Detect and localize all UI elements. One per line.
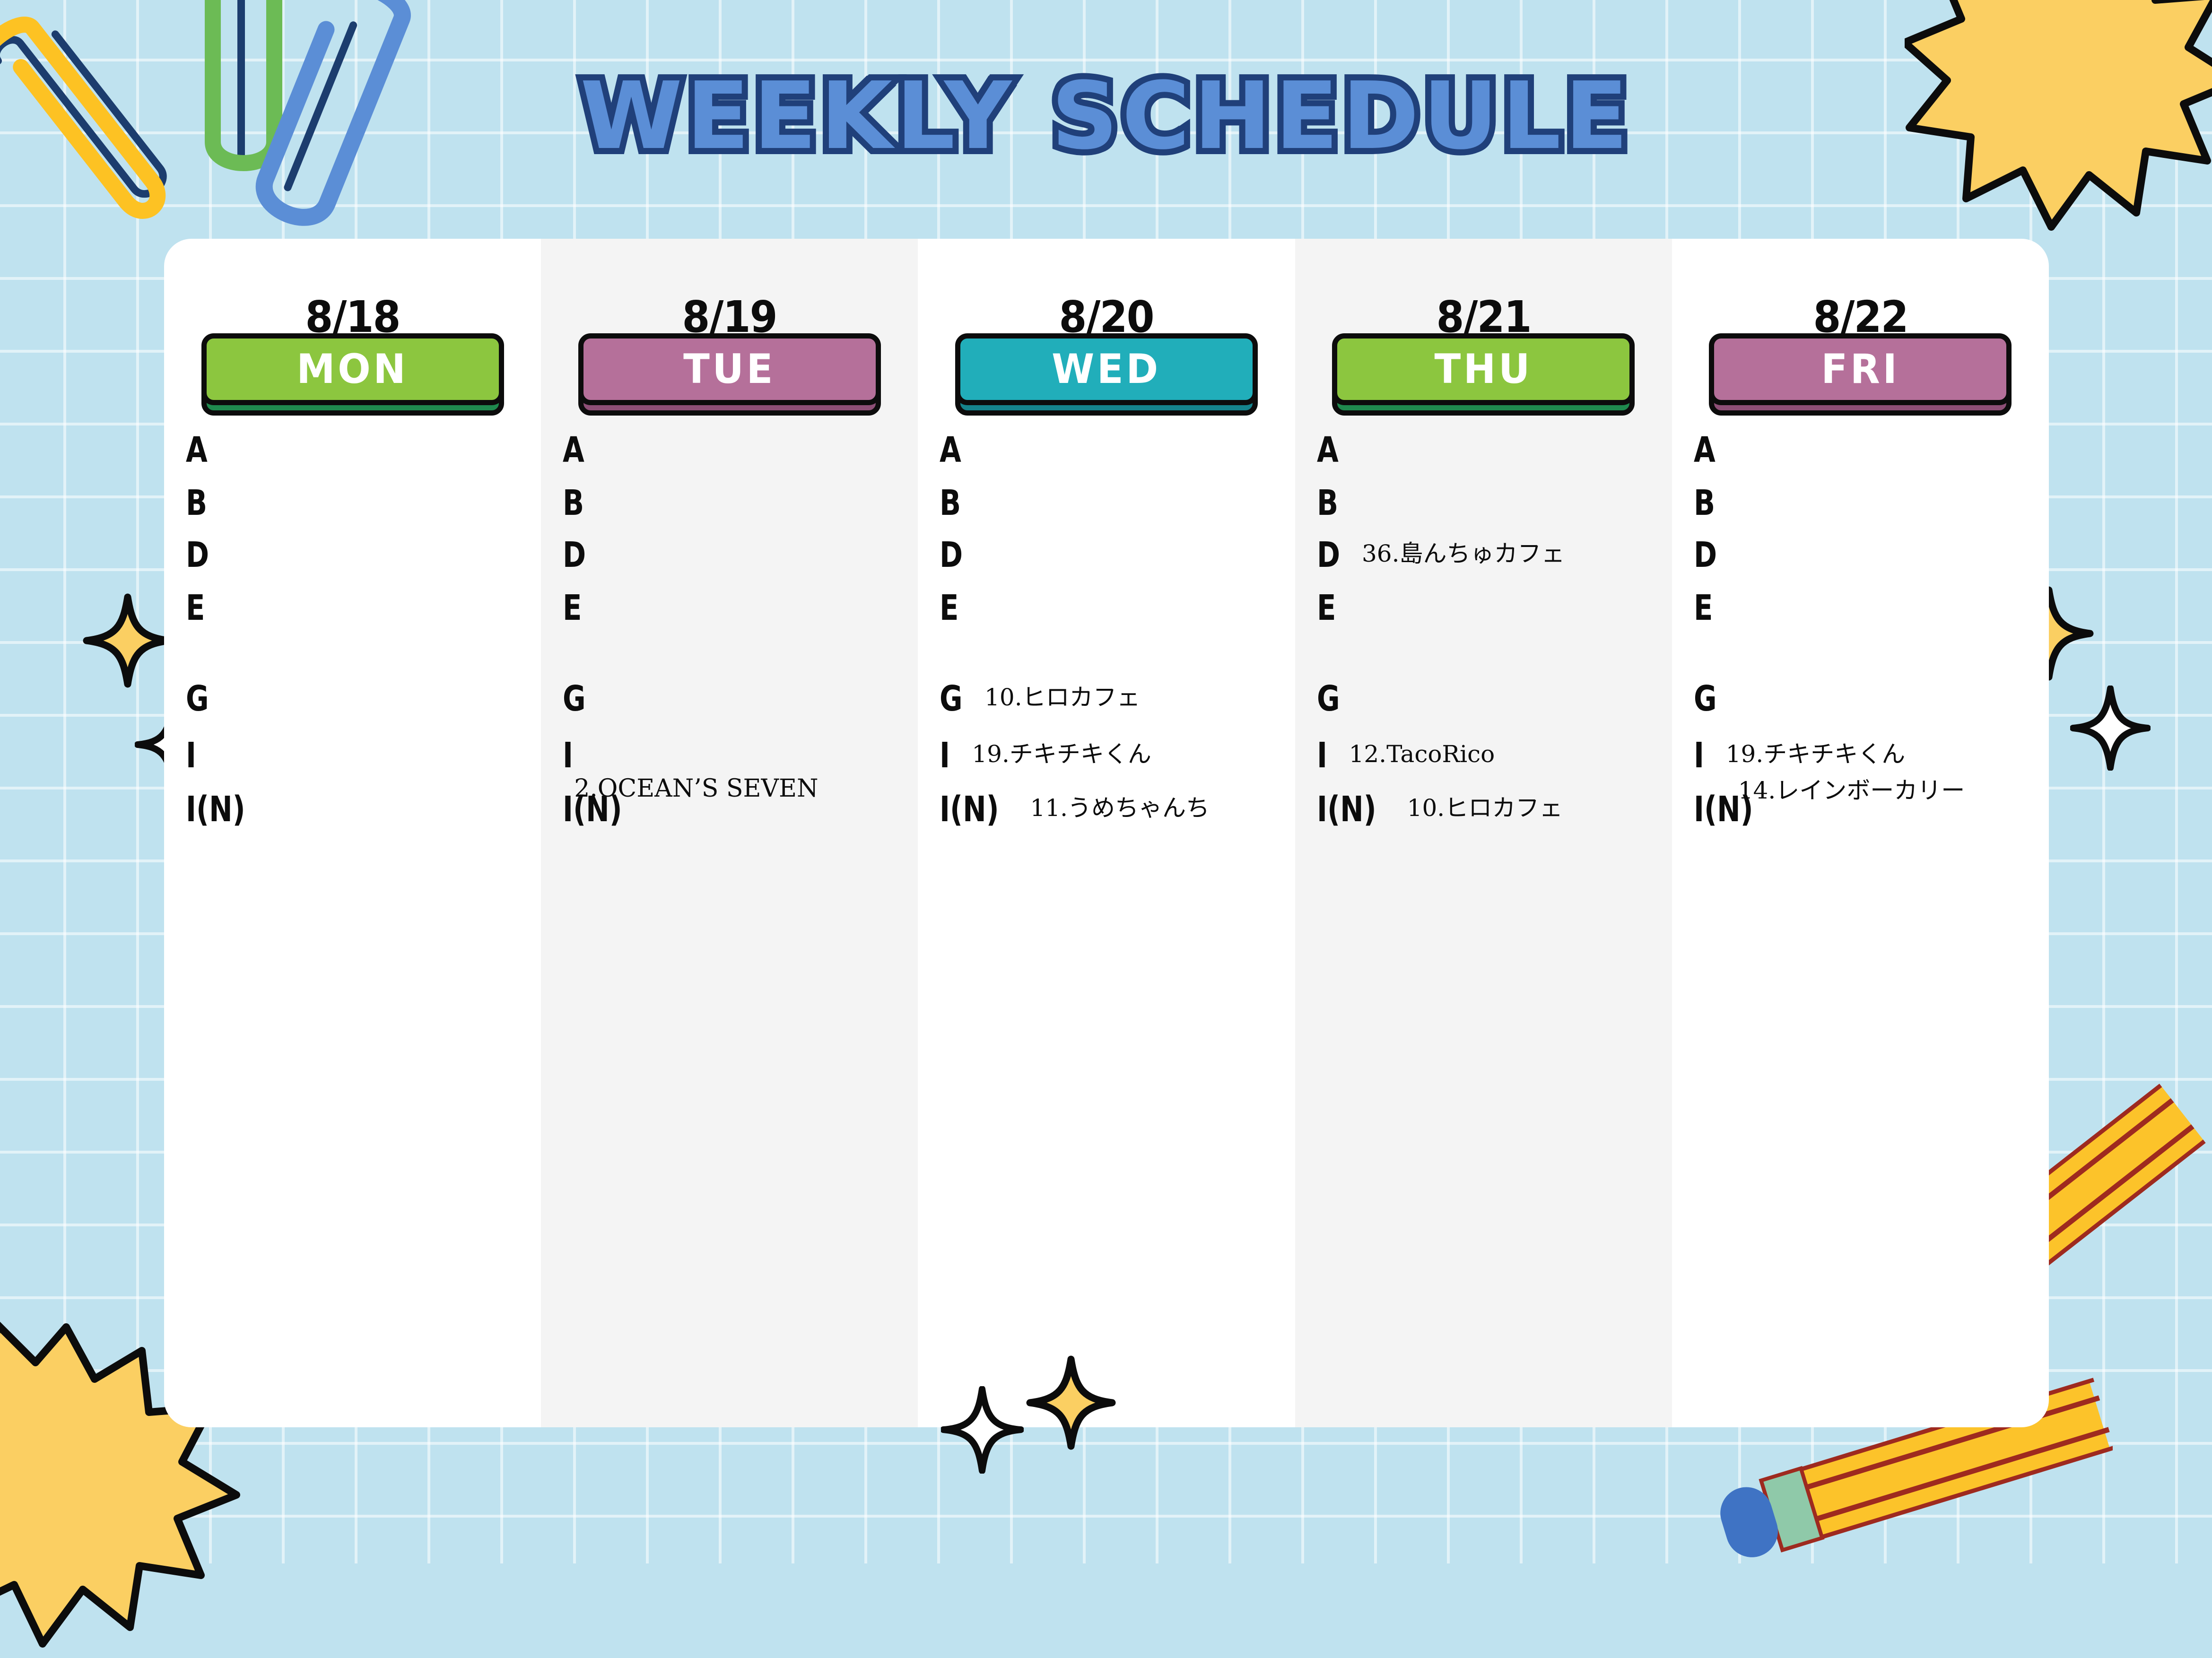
table-row: G [186,681,536,716]
schedule-entry-note[interactable]: 2.OCEAN’S SEVEN [574,776,818,802]
row-label-g: G [186,681,209,716]
day-column-mon: 8/18MONABDEGII(N) [164,239,541,1427]
row-label-d: D [186,538,209,573]
table-row: D [940,538,1290,573]
schedule-entry[interactable]: 11.うめちゃんち [1030,796,1210,821]
day-pill-face: MON [201,333,504,405]
rows-container: ABDEG10.ヒロカフェI19.チキチキくんI(N)11.うめちゃんち [918,433,1295,1427]
schedule-entry[interactable]: 19.チキチキくん [972,742,1151,767]
row-label-d: D [1317,538,1340,573]
row-label-b: B [940,486,961,521]
row-label-e: E [1694,590,1713,625]
row-label-in: I(N) [1694,792,1753,827]
row-label-a: A [940,433,961,468]
table-row: I19.チキチキくん [940,738,1290,773]
schedule-entry[interactable]: 10.ヒロカフェ [984,685,1141,710]
table-row: E [1317,590,1667,625]
day-column-fri: 8/22FRIABDEGI19.チキチキくん14.レインボーカリーI(N) [1672,239,2049,1427]
row-label-d: D [1694,538,1717,573]
table-row: I(N)11.うめちゃんち [940,792,1290,827]
row-label-i: I [563,738,575,773]
table-row: I12.TacoRico [1317,738,1667,773]
day-pill-face: TUE [578,333,881,405]
day-columns: 8/18MONABDEGII(N)8/19TUEABDEGII(N)2.OCEA… [164,239,2049,1427]
table-row: A [940,433,1290,468]
table-row: E [186,590,536,625]
table-row: E [1694,590,2044,625]
day-pill-mon[interactable]: MON [201,333,504,409]
row-label-a: A [1317,433,1339,468]
row-entries: 10.ヒロカフェ [984,681,1141,710]
day-column-tue: 8/19TUEABDEGII(N)2.OCEAN’S SEVEN [541,239,918,1427]
row-entries: 19.チキチキくん [972,738,1151,767]
row-label-i: I [186,738,199,773]
date-label-tue: 8/19 [556,292,903,342]
table-row: E [940,590,1290,625]
row-label-d: D [563,538,586,573]
row-entries: 10.ヒロカフェ [1407,792,1563,821]
rows-container: ABDEGII(N) [164,433,541,1427]
schedule-entry[interactable]: 19.チキチキくん [1726,742,1965,767]
table-row: B [1694,486,2044,521]
table-row: B [1317,486,1667,521]
table-row: G [1694,681,2044,716]
table-row: I(N) [186,792,536,827]
table-row: B [186,486,536,521]
day-pill-label: FRI [1821,349,1899,390]
row-label-in: I(N) [186,792,245,827]
table-row: A [1317,433,1667,468]
day-pill-face: THU [1332,333,1635,405]
table-row: D [1694,538,2044,573]
row-label-b: B [186,486,207,521]
row-entries: 36.島んちゅカフェ [1362,538,1565,566]
row-label-g: G [940,681,963,716]
row-label-e: E [563,590,582,625]
day-column-thu: 8/21THUABD36.島んちゅカフェEGI12.TacoRicoI(N)10… [1295,239,1672,1427]
table-row: D [563,538,913,573]
table-row: D36.島んちゅカフェ [1317,538,1667,573]
day-pill-face: WED [955,333,1258,405]
row-label-i: I [1694,738,1707,773]
row-label-a: A [563,433,584,468]
row-entries: 12.TacoRico [1349,738,1495,767]
rows-container: ABDEGII(N)2.OCEAN’S SEVEN [541,433,918,1427]
day-pill-fri[interactable]: FRI [1709,333,2012,409]
table-row: A [186,433,536,468]
table-row: G [1317,681,1667,716]
day-pill-face: FRI [1709,333,2012,405]
row-label-i: I [1317,738,1330,773]
row-label-g: G [1317,681,1340,716]
day-pill-label: THU [1434,349,1533,390]
date-label-mon: 8/18 [179,292,526,342]
table-row: A [1694,433,2044,468]
row-label-in: I(N) [940,792,999,827]
table-row: B [940,486,1290,521]
day-pill-thu[interactable]: THU [1332,333,1635,409]
day-pill-wed[interactable]: WED [955,333,1258,409]
day-column-wed: 8/20WEDABDEG10.ヒロカフェI19.チキチキくんI(N)11.うめち… [918,239,1295,1427]
row-label-e: E [1317,590,1336,625]
row-label-b: B [1694,486,1715,521]
day-pill-label: TUE [683,349,775,390]
table-row: E [563,590,913,625]
table-row: D [186,538,536,573]
rows-container: ABD36.島んちゅカフェEGI12.TacoRicoI(N)10.ヒロカフェ [1295,433,1672,1427]
row-label-g: G [563,681,586,716]
date-label-thu: 8/21 [1310,292,1656,342]
row-label-d: D [940,538,963,573]
row-label-g: G [1694,681,1717,716]
row-label-i: I [940,738,952,773]
date-label-wed: 8/20 [933,292,1280,342]
table-row: I [563,738,913,773]
row-label-a: A [186,433,208,468]
table-row: I(N) [1694,792,2044,827]
table-row: I [186,738,536,773]
row-label-e: E [940,590,958,625]
schedule-entry[interactable]: 10.ヒロカフェ [1407,796,1563,821]
page-title: WEEKLY SCHEDULE [0,70,2212,163]
row-label-b: B [563,486,584,521]
day-pill-label: MON [296,349,408,390]
schedule-card: 8/18MONABDEGII(N)8/19TUEABDEGII(N)2.OCEA… [164,239,2049,1427]
date-label-fri: 8/22 [1687,292,2034,342]
schedule-entry[interactable]: 12.TacoRico [1349,742,1495,767]
row-label-in: I(N) [1317,792,1376,827]
table-row: G10.ヒロカフェ [940,681,1290,716]
row-label-b: B [1317,486,1338,521]
table-row: B [563,486,913,521]
day-pill-tue[interactable]: TUE [578,333,881,409]
row-entries: 11.うめちゃんち [1030,792,1210,821]
row-label-e: E [186,590,205,625]
day-pill-label: WED [1052,349,1161,390]
table-row: G [563,681,913,716]
schedule-entry[interactable]: 36.島んちゅカフェ [1362,541,1565,566]
table-row: I(N)10.ヒロカフェ [1317,792,1667,827]
row-label-a: A [1694,433,1716,468]
table-row: A [563,433,913,468]
rows-container: ABDEGI19.チキチキくん14.レインボーカリーI(N) [1672,433,2049,1427]
